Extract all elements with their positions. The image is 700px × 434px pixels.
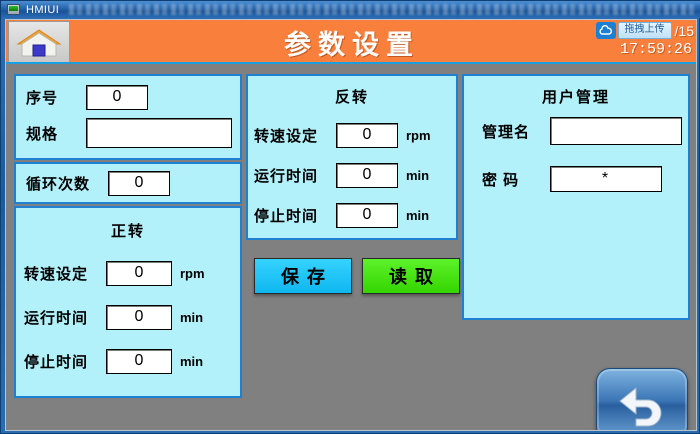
clock: 17:59:26 (620, 41, 696, 58)
home-icon (16, 27, 62, 57)
serial-label: 序号 (26, 87, 80, 108)
forward-run-label: 运行时间 (24, 307, 100, 328)
save-button[interactable]: 保存 (254, 258, 352, 294)
reverse-rotation-panel: 反转 转速设定 0 rpm 运行时间 0 min 停止时间 0 min (246, 74, 458, 240)
reverse-run-unit: min (406, 168, 429, 183)
reverse-run-input[interactable]: 0 (336, 163, 398, 188)
cycle-count-panel: 循环次数 0 (14, 162, 242, 204)
reverse-speed-unit: rpm (406, 128, 431, 143)
page-title: 参数设置 (6, 20, 697, 64)
password-label: 密 码 (482, 169, 544, 190)
forward-speed-row: 转速设定 0 rpm (24, 260, 205, 286)
page-counter: /15 (675, 23, 696, 39)
read-button[interactable]: 读取 (362, 258, 460, 294)
back-arrow-icon (612, 380, 672, 428)
reverse-stop-input[interactable]: 0 (336, 203, 398, 228)
cloud-upload-icon[interactable] (596, 22, 616, 39)
screen: HMIUI 参数设置 (0, 0, 700, 434)
basic-info-panel: 序号 0 规格 (14, 74, 242, 160)
forward-run-input[interactable]: 0 (106, 305, 172, 330)
spec-label: 规格 (26, 123, 80, 144)
monitor-icon (7, 4, 20, 15)
user-panel-title: 用户管理 (464, 86, 688, 107)
forward-stop-label: 停止时间 (24, 351, 100, 372)
hmi-header: 参数设置 拖拽上传 /15 17:59:26 (6, 20, 697, 64)
cloud-glyph (598, 25, 613, 36)
admin-name-row: 管理名 (482, 118, 682, 144)
upload-button[interactable]: 拖拽上传 (618, 22, 672, 39)
spec-row: 规格 (26, 120, 232, 146)
reverse-stop-row: 停止时间 0 min (254, 202, 429, 228)
reverse-stop-unit: min (406, 208, 429, 223)
window-titlebar[interactable]: HMIUI (1, 1, 700, 18)
reverse-run-label: 运行时间 (254, 165, 330, 186)
back-button[interactable] (596, 368, 688, 431)
window-title-watermark (69, 4, 697, 15)
forward-panel-title: 正转 (16, 220, 240, 241)
reverse-speed-label: 转速设定 (254, 125, 330, 146)
header-right-cluster: 拖拽上传 /15 17:59:26 (596, 21, 696, 58)
reverse-speed-row: 转速设定 0 rpm (254, 122, 431, 148)
forward-speed-label: 转速设定 (24, 263, 100, 284)
upload-row: 拖拽上传 /15 (596, 21, 696, 40)
forward-stop-input[interactable]: 0 (106, 349, 172, 374)
cycle-count-input[interactable]: 0 (108, 171, 170, 196)
reverse-speed-input[interactable]: 0 (336, 123, 398, 148)
spec-input[interactable] (86, 118, 232, 148)
password-input[interactable]: * (550, 166, 662, 192)
window-frame: HMIUI 参数设置 (0, 0, 700, 434)
reverse-run-row: 运行时间 0 min (254, 162, 429, 188)
forward-rotation-panel: 正转 转速设定 0 rpm 运行时间 0 min 停止时间 0 min (14, 206, 242, 398)
cycle-count-label: 循环次数 (26, 173, 100, 194)
forward-stop-unit: min (180, 354, 203, 369)
cycle-row: 循环次数 0 (26, 170, 170, 196)
reverse-stop-label: 停止时间 (254, 205, 330, 226)
user-management-panel: 用户管理 管理名 密 码 * (462, 74, 690, 320)
serial-input[interactable]: 0 (86, 85, 148, 110)
hmi-client-area: 参数设置 拖拽上传 /15 17:59:26 (5, 19, 697, 431)
forward-run-row: 运行时间 0 min (24, 304, 203, 330)
admin-name-label: 管理名 (482, 121, 544, 142)
window-title: HMIUI (26, 4, 59, 16)
serial-row: 序号 0 (26, 84, 148, 110)
home-button[interactable] (8, 21, 70, 63)
reverse-panel-title: 反转 (248, 86, 456, 107)
forward-stop-row: 停止时间 0 min (24, 348, 203, 374)
admin-name-input[interactable] (550, 117, 682, 145)
forward-run-unit: min (180, 310, 203, 325)
password-row: 密 码 * (482, 166, 662, 192)
forward-speed-unit: rpm (180, 266, 205, 281)
forward-speed-input[interactable]: 0 (106, 261, 172, 286)
